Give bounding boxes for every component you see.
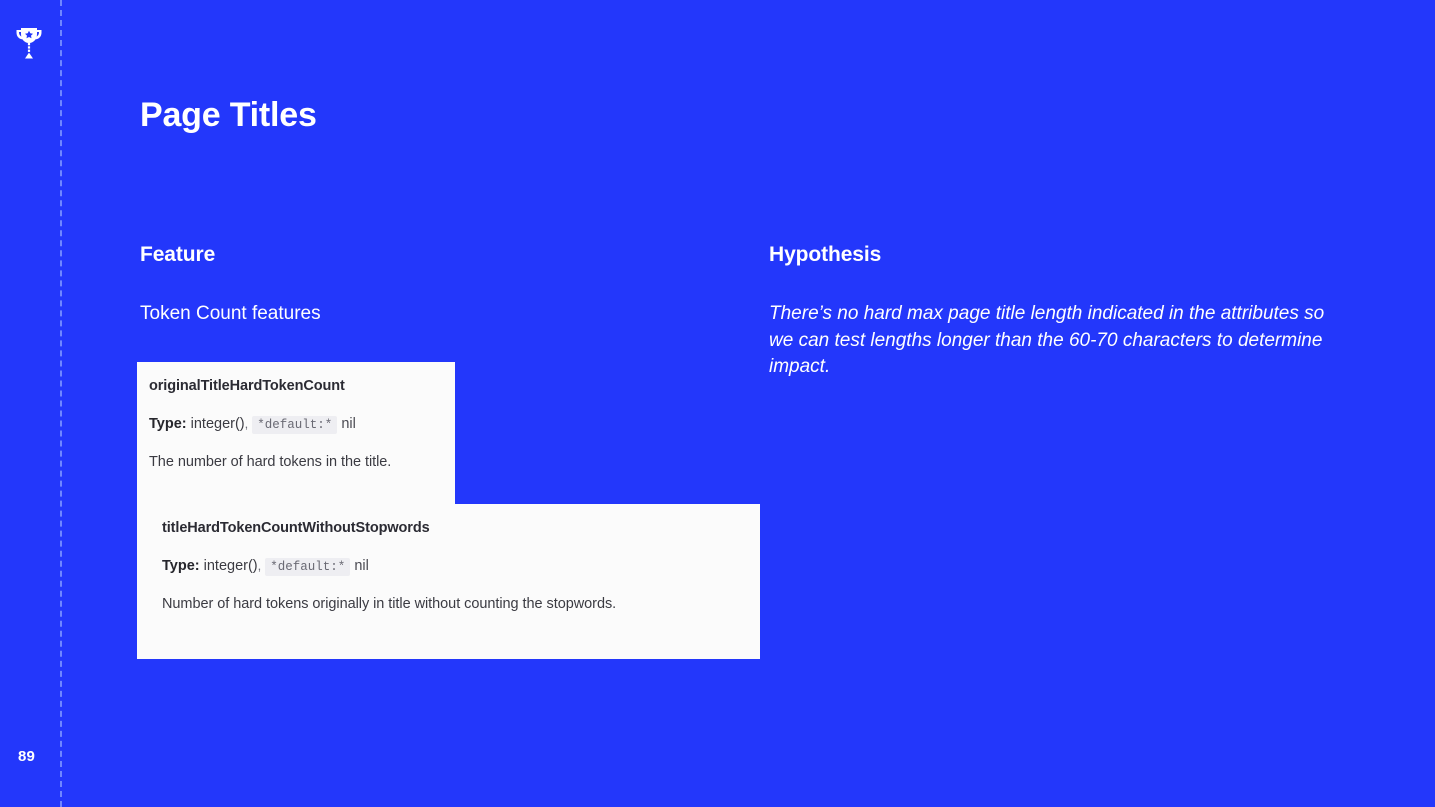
hypothesis-column: Hypothesis There’s no hard max page titl…	[769, 243, 1349, 381]
attribute-comma: ,	[258, 558, 262, 573]
attribute-card: titleHardTokenCountWithoutStopwords Type…	[137, 504, 760, 659]
attribute-type-label: Type:	[162, 558, 200, 574]
attribute-default-chip: *default:*	[252, 416, 337, 434]
attribute-description: Number of hard tokens originally in titl…	[162, 596, 744, 612]
attribute-card: originalTitleHardTokenCount Type: intege…	[137, 362, 455, 504]
feature-body: Token Count features	[140, 301, 740, 327]
feature-column: Feature Token Count features	[140, 243, 740, 327]
attribute-type-value: integer()	[204, 558, 258, 574]
attribute-type-line: Type: integer(), *default:* nil	[149, 416, 439, 432]
attribute-default-value: nil	[354, 558, 369, 574]
attribute-name: titleHardTokenCountWithoutStopwords	[162, 520, 744, 536]
trophy-icon	[14, 26, 44, 60]
attribute-name: originalTitleHardTokenCount	[149, 378, 439, 394]
page-title: Page Titles	[140, 96, 317, 135]
attribute-description: The number of hard tokens in the title.	[149, 454, 439, 470]
attribute-comma: ,	[245, 416, 249, 431]
page-number: 89	[18, 748, 35, 765]
attribute-default-value: nil	[341, 416, 356, 432]
slide-canvas: { "slide": { "title": "Page Titles", "pa…	[0, 0, 1435, 807]
attribute-type-label: Type:	[149, 416, 187, 432]
dashed-vertical-rule	[60, 0, 62, 807]
hypothesis-heading: Hypothesis	[769, 243, 1349, 267]
feature-heading: Feature	[140, 243, 740, 267]
attribute-type-line: Type: integer(), *default:* nil	[162, 558, 744, 574]
attribute-default-chip: *default:*	[265, 558, 350, 576]
hypothesis-body: There’s no hard max page title length in…	[769, 301, 1349, 381]
attribute-type-value: integer()	[191, 416, 245, 432]
